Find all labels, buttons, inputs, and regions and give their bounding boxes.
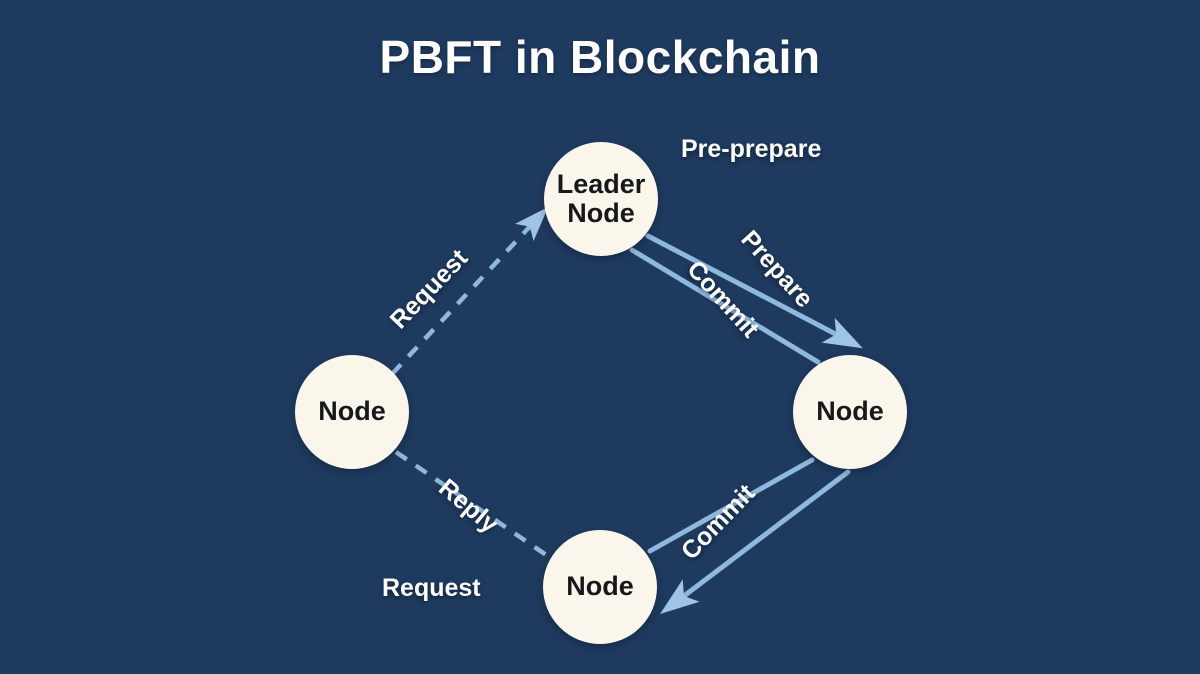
node-bottom-label: Node: [566, 572, 634, 601]
node-leader-label-line2: Node: [567, 198, 635, 228]
node-right[interactable]: Node: [793, 355, 907, 469]
node-leader-label-line1: Leader: [557, 169, 646, 199]
edge-label-pre-prepare: Pre-prepare: [681, 135, 821, 164]
node-leader[interactable]: Leader Node: [544, 142, 658, 256]
diagram-canvas: PBFT in Blockchain Leader Node Node Node: [0, 0, 1200, 674]
edge-label-request-bottom: Request: [382, 574, 481, 603]
node-bottom[interactable]: Node: [543, 530, 657, 644]
node-left-label: Node: [318, 397, 386, 426]
node-left[interactable]: Node: [295, 355, 409, 469]
node-right-label: Node: [816, 397, 884, 426]
